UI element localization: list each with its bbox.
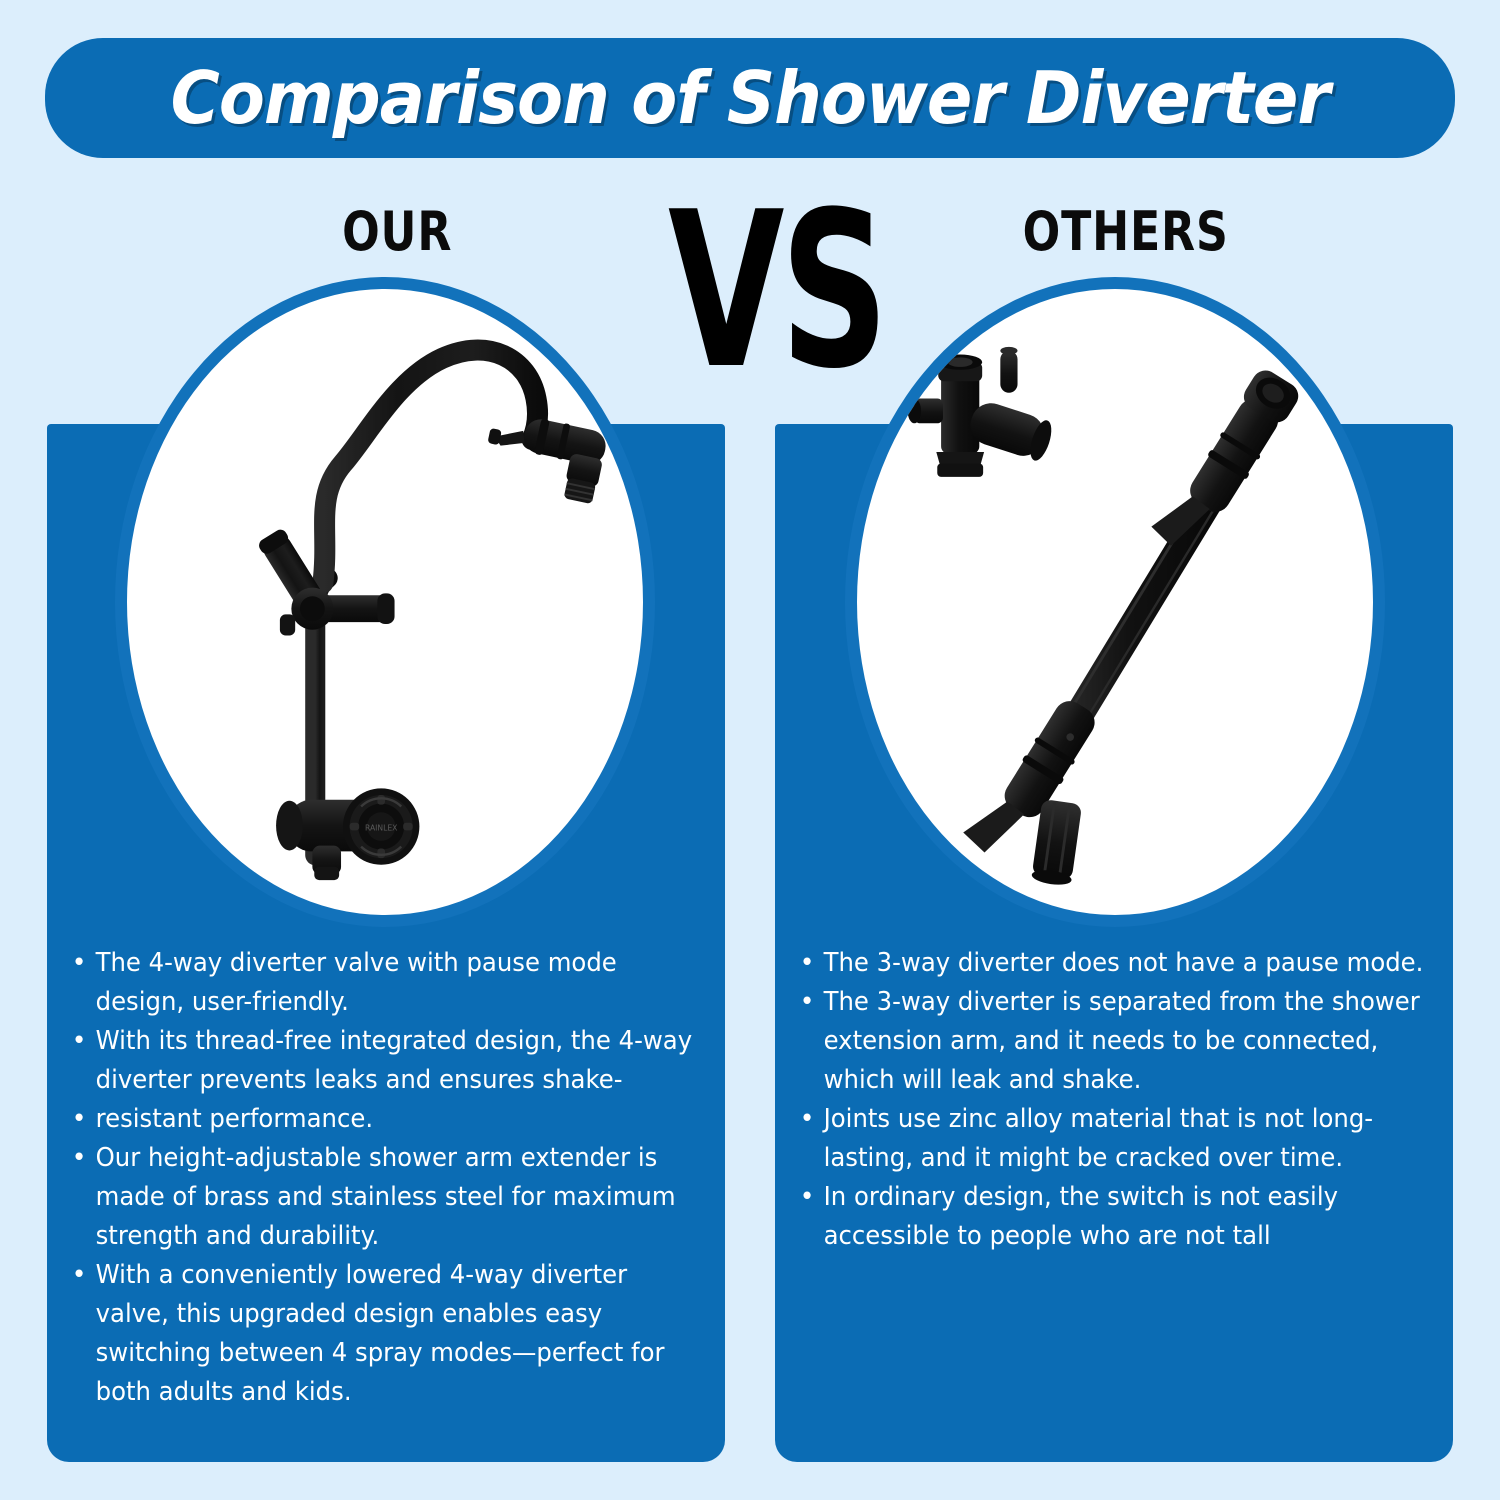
bullet-item: With a conveniently lowered 4-way divert… bbox=[66, 1256, 694, 1412]
bullet-item: The 4-way diverter valve with pause mode… bbox=[66, 944, 694, 1022]
comparison-infographic: Comparison of Shower Diverter OUR VS OTH… bbox=[0, 0, 1500, 1500]
bullet-list-others: The 3-way diverter does not have a pause… bbox=[794, 944, 1454, 1256]
title-banner: Comparison of Shower Diverter bbox=[45, 38, 1455, 158]
svg-text:RAINLEX: RAINLEX bbox=[365, 823, 397, 832]
bullet-item: With its thread-free integrated design, … bbox=[66, 1022, 694, 1100]
product-circle-our: RAINLEX bbox=[115, 277, 655, 927]
page-title: Comparison of Shower Diverter bbox=[171, 56, 1330, 140]
bullet-list-our: The 4-way diverter valve with pause mode… bbox=[66, 944, 724, 1412]
product-circle-others bbox=[845, 277, 1385, 927]
bullet-item: resistant performance. bbox=[66, 1100, 694, 1139]
bullet-item: In ordinary design, the switch is not ea… bbox=[794, 1178, 1424, 1256]
bullet-item: Joints use zinc alloy material that is n… bbox=[794, 1100, 1424, 1178]
product-image-others bbox=[857, 289, 1373, 915]
column-heading-others: OTHERS bbox=[1023, 200, 1229, 263]
bullet-item: The 3-way diverter is separated from the… bbox=[794, 983, 1424, 1100]
bullet-item: Our height-adjustable shower arm extende… bbox=[66, 1139, 694, 1256]
product-image-our: RAINLEX bbox=[127, 289, 643, 915]
bullet-item: The 3-way diverter does not have a pause… bbox=[794, 944, 1424, 983]
column-heading-our: OUR bbox=[342, 200, 452, 263]
vs-badge: VS bbox=[668, 183, 884, 398]
